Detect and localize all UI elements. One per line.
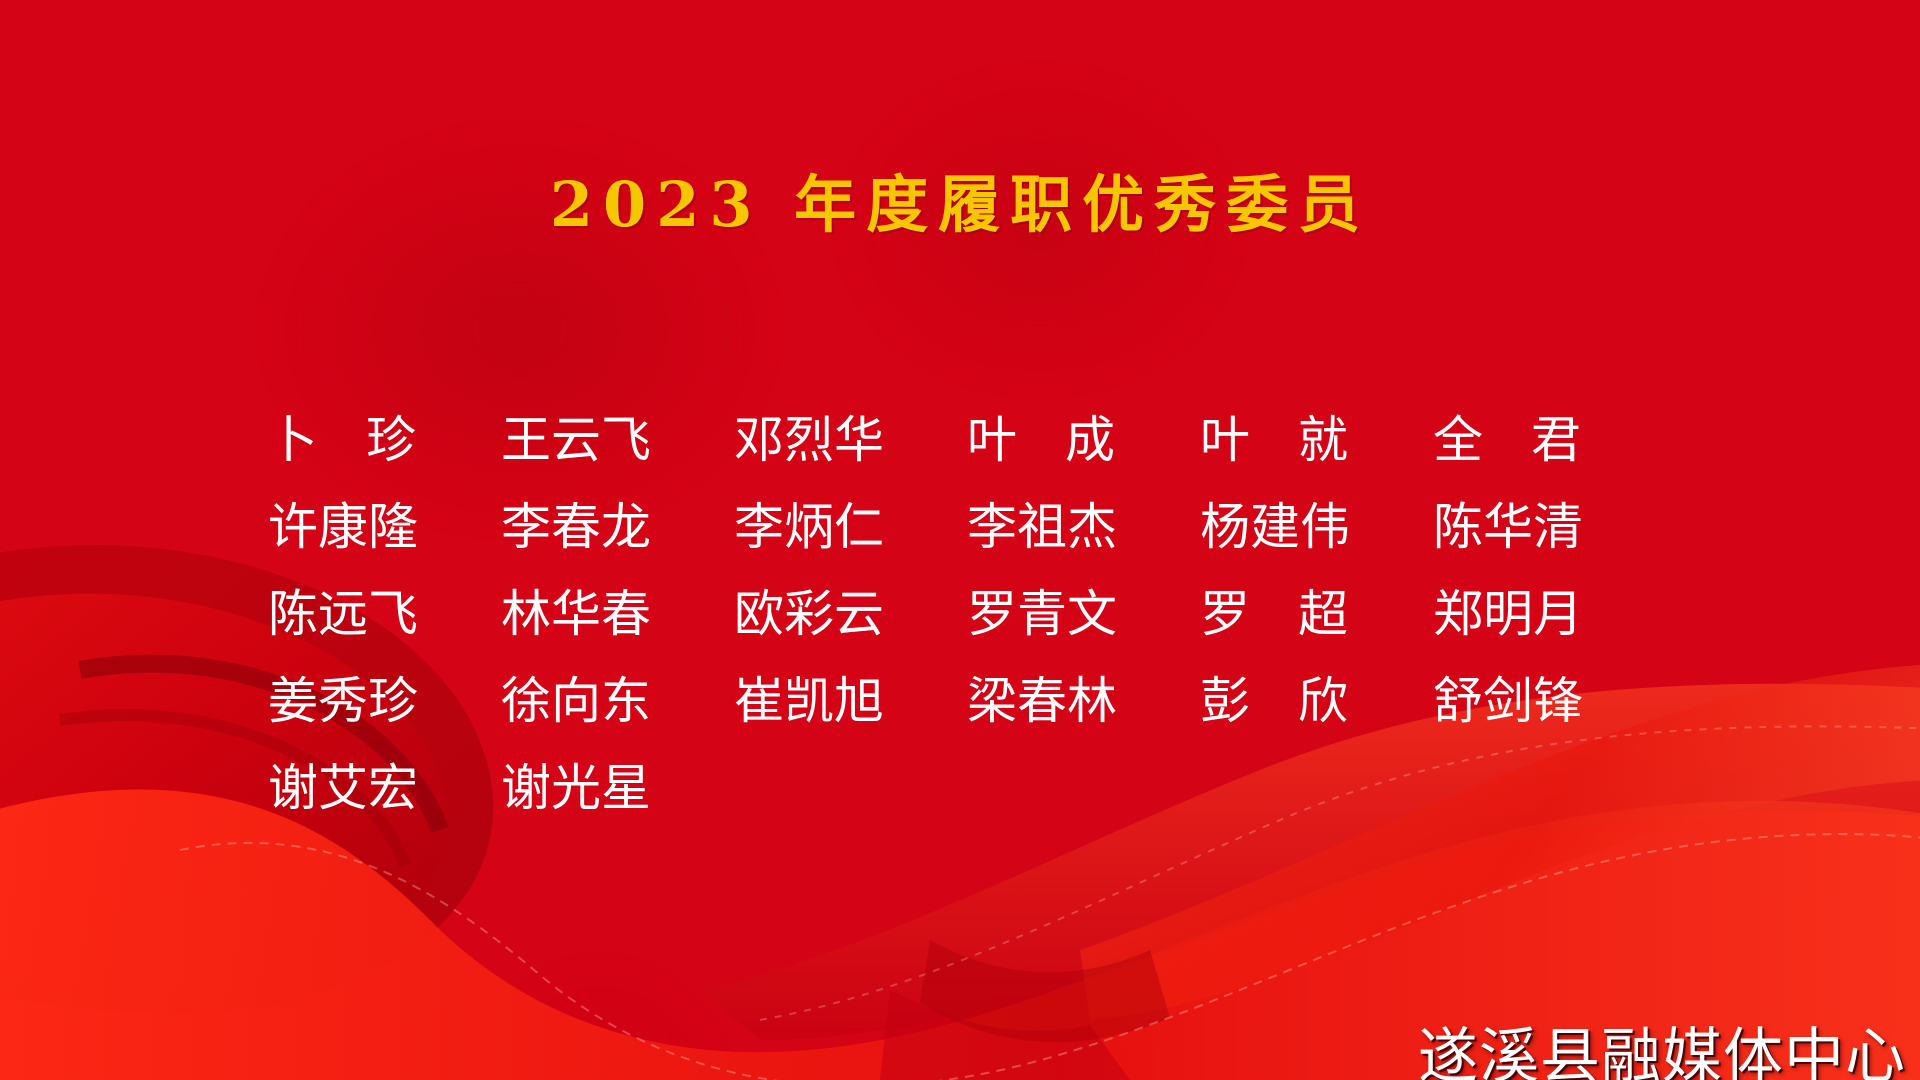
honoree-name: 郑明月	[1433, 589, 1666, 639]
honoree-name: 陈华清	[1433, 502, 1666, 552]
honoree-name: 彭欣	[1200, 676, 1433, 726]
watermark-text: 遂溪县融媒体中心	[1418, 1024, 1906, 1080]
honoree-name: 邓烈华	[734, 415, 967, 465]
honoree-name: 谢光星	[501, 763, 734, 813]
honoree-name-grid: 卜珍 王云飞 邓烈华 叶成 叶就 全君 许康隆 李春龙 李炳仁 李祖杰 杨建伟 …	[268, 396, 1668, 831]
table-row: 陈远飞 林华春 欧彩云 罗青文 罗超 郑明月	[268, 570, 1668, 657]
poster-slide: 2023 年度履职优秀委员 卜珍 王云飞 邓烈华 叶成 叶就 全君 许康隆 李春…	[0, 0, 1920, 1080]
honoree-name: 李春龙	[501, 502, 734, 552]
honoree-name: 王云飞	[501, 415, 734, 465]
honoree-name: 李祖杰	[967, 502, 1200, 552]
honoree-name: 叶就	[1200, 415, 1433, 465]
honoree-name: 姜秀珍	[268, 676, 501, 726]
honoree-name: 梁春林	[967, 676, 1200, 726]
honoree-name: 罗青文	[967, 589, 1200, 639]
table-row: 许康隆 李春龙 李炳仁 李祖杰 杨建伟 陈华清	[268, 483, 1668, 570]
honoree-name: 徐向东	[501, 676, 734, 726]
page-title: 2023 年度履职优秀委员	[550, 172, 1370, 237]
honoree-name: 李炳仁	[734, 502, 967, 552]
honoree-name: 许康隆	[268, 502, 501, 552]
honoree-name: 杨建伟	[1200, 502, 1433, 552]
honoree-name: 崔凯旭	[734, 676, 967, 726]
table-row: 姜秀珍 徐向东 崔凯旭 梁春林 彭欣 舒剑锋	[268, 657, 1668, 744]
honoree-name: 罗超	[1200, 589, 1433, 639]
honoree-name: 陈远飞	[268, 589, 501, 639]
honoree-name: 叶成	[967, 415, 1200, 465]
honoree-name: 谢艾宏	[268, 763, 501, 813]
honoree-name: 卜珍	[268, 415, 501, 465]
table-row: 卜珍 王云飞 邓烈华 叶成 叶就 全君	[268, 396, 1668, 483]
honoree-name: 欧彩云	[734, 589, 967, 639]
honoree-name: 舒剑锋	[1433, 676, 1666, 726]
honoree-name: 林华春	[501, 589, 734, 639]
title-container: 2023 年度履职优秀委员	[0, 172, 1920, 237]
table-row: 谢艾宏 谢光星	[268, 744, 1668, 831]
honoree-name: 全君	[1433, 415, 1666, 465]
